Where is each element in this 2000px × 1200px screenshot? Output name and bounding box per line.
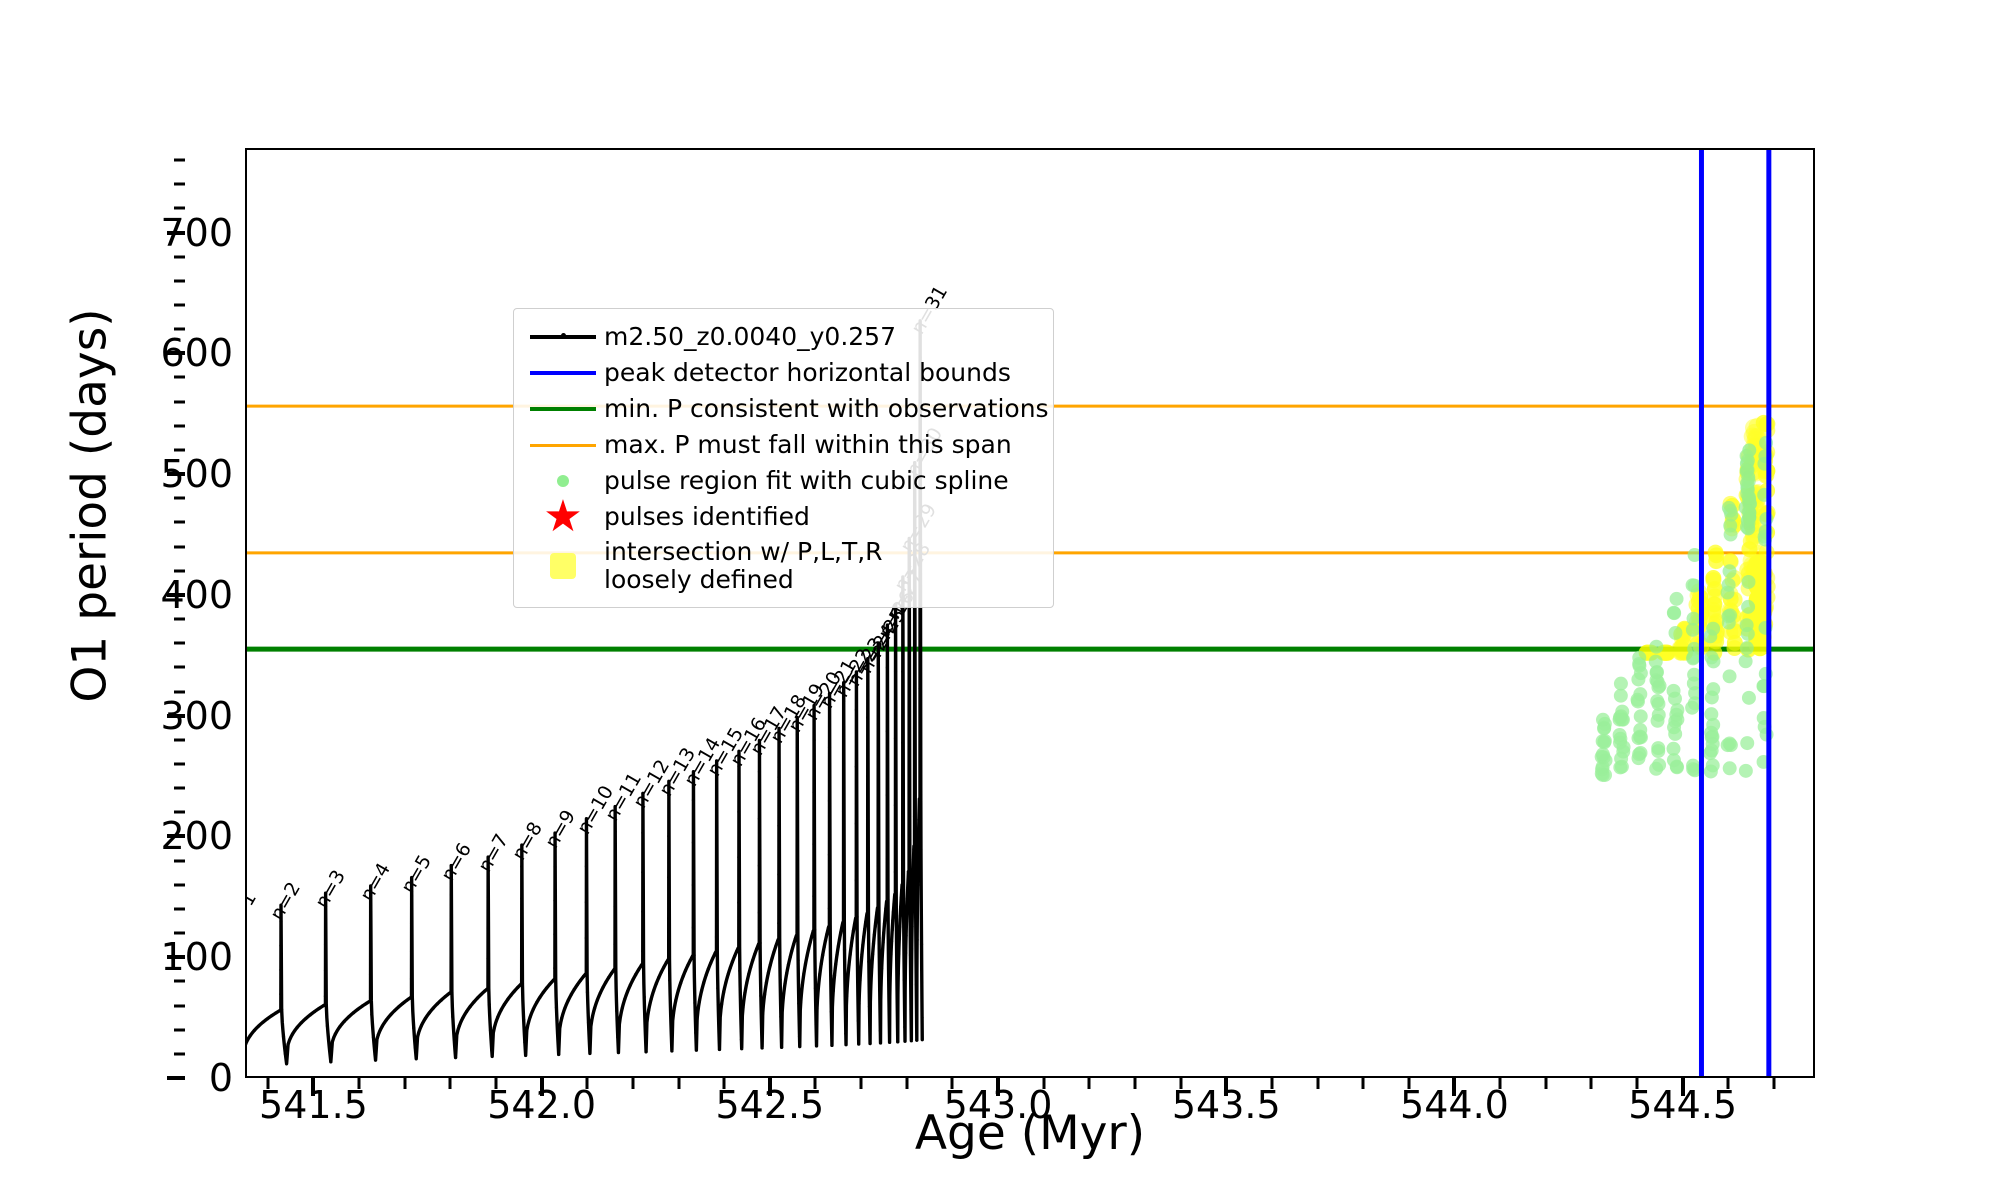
track-point: [652, 989, 655, 992]
track-point: [901, 883, 904, 886]
track-point: [715, 935, 718, 938]
track-point: [669, 1014, 672, 1017]
legend-label-min-p: min. P consistent with observations: [604, 396, 1049, 422]
spline-point: [1614, 677, 1628, 691]
spline-point: [1668, 626, 1682, 640]
track-point: [317, 1007, 320, 1010]
spline-point: [1631, 693, 1645, 707]
track-point: [873, 933, 876, 936]
track-point: [724, 981, 727, 984]
track-point: [889, 969, 892, 972]
spline-point: [1596, 713, 1610, 727]
track-point: [822, 946, 825, 949]
track-point: [643, 995, 646, 998]
track-point: [718, 1048, 721, 1051]
spline-point: [1741, 600, 1755, 614]
y-tick-minor: [174, 932, 185, 935]
track-point: [916, 938, 919, 941]
spline-point: [1653, 679, 1667, 693]
track-point: [884, 907, 887, 910]
track-point: [783, 982, 786, 985]
track-point: [729, 966, 732, 969]
track-point: [373, 1053, 376, 1056]
track-point: [513, 990, 516, 993]
track-point: [828, 907, 831, 910]
track-point: [655, 982, 658, 985]
y-tick-minor: [174, 255, 185, 258]
track-point: [352, 1011, 355, 1014]
red-star-icon: ★: [522, 499, 604, 535]
track-point: [692, 798, 695, 801]
track-point: [776, 939, 779, 942]
track-point: [830, 1010, 833, 1013]
intersection-marker: [1705, 604, 1721, 620]
y-tick-minor: [174, 666, 185, 669]
spline-point: [1739, 764, 1753, 778]
track-point: [813, 928, 816, 931]
track-point: [871, 953, 874, 956]
track-point: [911, 893, 914, 896]
green-spline-markers: [1595, 436, 1774, 782]
track-point: [827, 927, 830, 930]
spline-point: [1742, 505, 1756, 519]
y-axis-title: O1 period (days): [63, 56, 118, 956]
track-point: [334, 1032, 337, 1035]
track-point: [266, 1017, 269, 1020]
track-point: [483, 989, 486, 992]
spline-point: [1670, 760, 1684, 774]
spline-point: [1706, 682, 1720, 696]
track-point: [901, 741, 904, 744]
track-point: [401, 1002, 404, 1005]
track-point: [560, 1016, 563, 1019]
track-point: [486, 987, 489, 990]
track-point: [616, 1036, 619, 1039]
track-point: [779, 1015, 782, 1018]
track-point: [428, 1011, 431, 1014]
track-point: [919, 848, 922, 851]
track-point: [861, 943, 864, 946]
track-point: [913, 815, 916, 818]
spline-point: [1667, 684, 1681, 698]
spline-point: [1613, 732, 1627, 746]
track-point: [891, 919, 894, 922]
track-point: [522, 1018, 525, 1021]
track-point: [716, 987, 719, 990]
track-point: [888, 1015, 891, 1018]
track-point: [874, 925, 877, 928]
track-point: [907, 819, 910, 822]
spline-point: [1632, 751, 1646, 765]
track-point: [472, 1000, 475, 1003]
x-tick-minor: [631, 1078, 634, 1089]
track-point: [777, 873, 780, 876]
track-point: [461, 1016, 464, 1019]
x-tick-label: 543.5: [1172, 1083, 1281, 1127]
track-point: [737, 901, 740, 904]
track-point: [911, 908, 914, 911]
track-point: [789, 956, 792, 959]
intersection-marker: [1691, 593, 1707, 609]
track-point: [657, 976, 660, 979]
track-point: [553, 933, 556, 936]
track-point: [257, 1024, 260, 1027]
track-point: [740, 1038, 743, 1041]
track-point: [279, 944, 282, 947]
track-point: [715, 847, 718, 850]
track-point: [614, 830, 617, 833]
track-point: [279, 968, 282, 971]
spline-point: [1723, 564, 1737, 578]
track-point: [770, 957, 773, 960]
track-point: [892, 902, 895, 905]
track-point: [906, 897, 909, 900]
track-point: [787, 963, 790, 966]
track-point: [731, 960, 734, 963]
y-tick-minor: [174, 811, 185, 814]
track-point: [893, 895, 896, 898]
spline-point: [1705, 650, 1719, 664]
track-point: [906, 878, 909, 881]
x-tick-minor: [1179, 1078, 1182, 1089]
spline-point: [1614, 689, 1628, 703]
track-point: [347, 1015, 350, 1018]
track-point: [324, 892, 327, 895]
x-tick-label: 544.5: [1628, 1083, 1737, 1127]
track-point: [295, 1026, 298, 1029]
x-tick-minor: [449, 1078, 452, 1089]
track-point: [884, 914, 887, 917]
track-point: [866, 657, 869, 660]
track-point: [891, 929, 894, 932]
track-point: [842, 921, 845, 924]
track-point: [855, 879, 858, 882]
track-point: [610, 972, 613, 975]
track-point: [785, 972, 788, 975]
track-point: [365, 1001, 368, 1004]
x-tick-minor: [1270, 1078, 1273, 1089]
y-tick-minor: [174, 690, 185, 693]
track-point: [410, 922, 413, 925]
x-tick-minor: [677, 1078, 680, 1089]
track-point: [284, 1052, 287, 1055]
track-point: [309, 1013, 312, 1016]
y-tick-label: 600: [160, 331, 233, 375]
track-point: [356, 1008, 359, 1011]
track-point: [613, 905, 616, 908]
track-point: [613, 943, 616, 946]
track-point: [737, 765, 740, 768]
track-point: [868, 1005, 871, 1008]
track-point: [896, 998, 899, 1001]
y-tick-minor: [174, 328, 185, 331]
track-point: [660, 970, 663, 973]
x-tick-minor: [1544, 1078, 1547, 1089]
track-point: [640, 964, 643, 967]
y-tick-minor: [174, 762, 185, 765]
spline-point: [1722, 609, 1736, 623]
track-point: [795, 934, 798, 937]
track-point: [886, 857, 889, 860]
chart-legend[interactable]: m2.50_z0.0040_y0.257 peak detector horiz…: [513, 308, 1054, 608]
track-point: [668, 979, 671, 982]
spline-point: [1740, 457, 1754, 471]
track-point: [280, 1008, 283, 1011]
track-point: [274, 1011, 277, 1014]
x-tick-minor: [403, 1078, 406, 1089]
chart-graphics: [247, 150, 1813, 1076]
x-tick-minor: [1088, 1078, 1091, 1089]
track-point: [548, 983, 551, 986]
y-tick-minor: [174, 521, 185, 524]
spline-point: [1651, 714, 1665, 728]
track-point: [509, 993, 512, 996]
track-point: [880, 967, 883, 970]
green-line-icon: [522, 391, 604, 427]
y-tick-minor: [174, 787, 185, 790]
track-point: [825, 933, 828, 936]
track-point: [905, 920, 908, 923]
legend-item-peak-bounds[interactable]: peak detector horizontal bounds: [522, 355, 1045, 391]
track-point: [369, 893, 372, 896]
track-point: [694, 1031, 697, 1034]
track-point: [613, 868, 616, 871]
track-point: [693, 1001, 696, 1004]
spline-point: [1670, 592, 1684, 606]
legend-item-intersection[interactable]: intersection w/ P,L,T,R loosely defined: [522, 535, 1045, 597]
track-point: [853, 923, 856, 926]
y-tick-minor: [174, 376, 185, 379]
track-point: [911, 880, 914, 883]
track-point: [855, 708, 858, 711]
track-point: [582, 975, 585, 978]
track-point: [626, 990, 629, 993]
track-point: [747, 972, 750, 975]
y-tick-minor: [174, 569, 185, 572]
track-point: [480, 993, 483, 996]
track-point: [585, 829, 588, 832]
y-tick-label: 500: [160, 452, 233, 496]
blue-line-icon: [522, 355, 604, 391]
legend-item-max-p[interactable]: max. P must fall within this span: [522, 427, 1045, 463]
track-point: [587, 1021, 590, 1024]
track-point: [684, 969, 687, 972]
track-point: [866, 775, 869, 778]
track-point: [270, 1014, 273, 1017]
track-point: [912, 868, 915, 871]
track-point: [667, 917, 670, 920]
track-point: [644, 1025, 647, 1028]
track-point: [917, 832, 920, 835]
spline-point: [1704, 726, 1718, 740]
x-tick-minor: [814, 1078, 817, 1089]
x-tick-minor: [905, 1078, 908, 1089]
track-point: [416, 1035, 419, 1038]
track-point: [674, 998, 677, 1001]
track-point: [328, 1044, 331, 1047]
track-point: [692, 954, 695, 957]
track-point: [917, 818, 920, 821]
x-tick-minor: [1590, 1078, 1593, 1089]
x-tick-minor: [358, 1078, 361, 1089]
track-point: [686, 964, 689, 967]
track-point: [717, 1020, 720, 1023]
track-point: [733, 955, 736, 958]
track-point: [741, 1006, 744, 1009]
track-point: [585, 936, 588, 939]
track-point: [812, 895, 815, 898]
track-point: [832, 989, 835, 992]
spline-point: [1651, 741, 1665, 755]
track-point: [894, 737, 897, 740]
spline-point: [1741, 627, 1755, 641]
track-point: [886, 898, 889, 901]
track-point: [814, 1023, 817, 1026]
track-point: [828, 799, 831, 802]
track-point: [389, 1013, 392, 1016]
track-point: [737, 946, 740, 949]
track-point: [410, 950, 413, 953]
track-point: [696, 1017, 699, 1020]
track-point: [875, 911, 878, 914]
track-point: [637, 968, 640, 971]
track-point: [261, 1021, 264, 1024]
track-point: [411, 995, 414, 998]
track-point: [709, 962, 712, 965]
spline-point: [1740, 476, 1754, 490]
track-point: [520, 961, 523, 964]
track-point: [899, 915, 902, 918]
track-point: [672, 1012, 675, 1015]
track-point: [705, 974, 708, 977]
track-point: [715, 759, 718, 762]
track-point: [790, 949, 793, 952]
track-point: [749, 965, 752, 968]
track-point: [313, 1010, 316, 1013]
track-point: [538, 996, 541, 999]
track-point: [714, 952, 717, 955]
track-point: [913, 727, 916, 730]
track-point: [857, 1002, 860, 1005]
track-point: [585, 972, 588, 975]
track-point: [586, 990, 589, 993]
track-point: [324, 995, 327, 998]
track-point: [453, 1038, 456, 1041]
legend-item-pulses[interactable]: ★ pulses identified: [522, 499, 1045, 535]
track-point: [596, 998, 599, 1001]
track-point: [805, 954, 808, 957]
track-point: [844, 1032, 847, 1035]
x-tick-minor: [1042, 1078, 1045, 1089]
track-point: [520, 865, 523, 868]
track-point: [253, 1029, 256, 1032]
track-point: [599, 991, 602, 994]
track-point: [450, 893, 453, 896]
spline-point: [1667, 606, 1681, 620]
track-point: [681, 975, 684, 978]
track-point: [910, 947, 913, 950]
track-point: [585, 865, 588, 868]
spline-point: [1724, 738, 1738, 752]
track-point: [824, 939, 827, 942]
track-point: [835, 953, 838, 956]
track-point: [902, 918, 905, 921]
track-point: [904, 951, 907, 954]
track-point: [566, 999, 569, 1002]
track-point: [715, 891, 718, 894]
track-point: [545, 987, 548, 990]
track-point: [420, 1024, 423, 1027]
legend-label-intersection-line2: loosely defined: [604, 565, 794, 594]
track-point: [870, 965, 873, 968]
track-point: [448, 992, 451, 995]
track-point: [476, 996, 479, 999]
track-point: [385, 1018, 388, 1021]
y-tick-minor: [174, 1052, 185, 1055]
legend-item-model[interactable]: m2.50_z0.0040_y0.257: [522, 319, 1045, 355]
track-point: [792, 943, 795, 946]
track-point: [916, 907, 919, 910]
track-point: [906, 887, 909, 890]
track-point: [877, 723, 880, 726]
spline-point: [1651, 697, 1665, 711]
track-point: [855, 822, 858, 825]
track-point: [516, 986, 519, 989]
track-point: [248, 1034, 251, 1037]
track-point: [486, 926, 489, 929]
track-point: [465, 1010, 468, 1013]
track-point: [866, 716, 869, 719]
track-point: [799, 1000, 802, 1003]
track-point: [593, 1007, 596, 1010]
track-point: [487, 866, 490, 869]
track-point: [868, 1042, 871, 1045]
x-tick-minor: [1636, 1078, 1639, 1089]
track-point: [876, 906, 879, 909]
track-point: [369, 1000, 372, 1003]
track-point: [804, 962, 807, 965]
x-tick-minor: [266, 1078, 269, 1089]
track-point: [847, 963, 850, 966]
spline-point: [1649, 762, 1663, 776]
track-point: [361, 1004, 364, 1007]
track-point: [753, 953, 756, 956]
x-tick-minor: [1316, 1078, 1319, 1089]
track-point: [585, 901, 588, 904]
track-point: [304, 1017, 307, 1020]
track-point: [525, 1029, 528, 1032]
legend-item-min-p[interactable]: min. P consistent with observations: [522, 391, 1045, 427]
track-point: [828, 853, 831, 856]
track-point: [343, 1020, 346, 1023]
spline-point: [1703, 629, 1717, 643]
spline-point: [1595, 767, 1609, 781]
track-point: [692, 841, 695, 844]
track-point: [528, 1016, 531, 1019]
track-point: [851, 936, 854, 939]
y-tick-minor: [174, 618, 185, 621]
track-point: [614, 967, 617, 970]
track-point: [829, 969, 832, 972]
track-point: [579, 979, 582, 982]
y-tick-minor: [174, 907, 185, 910]
legend-item-spline[interactable]: pulse region fit with cubic spline: [522, 463, 1045, 499]
track-point: [904, 976, 907, 979]
track-point: [555, 1006, 558, 1009]
track-point: [370, 1013, 373, 1016]
track-point: [692, 883, 695, 886]
x-tick-minor: [723, 1078, 726, 1089]
